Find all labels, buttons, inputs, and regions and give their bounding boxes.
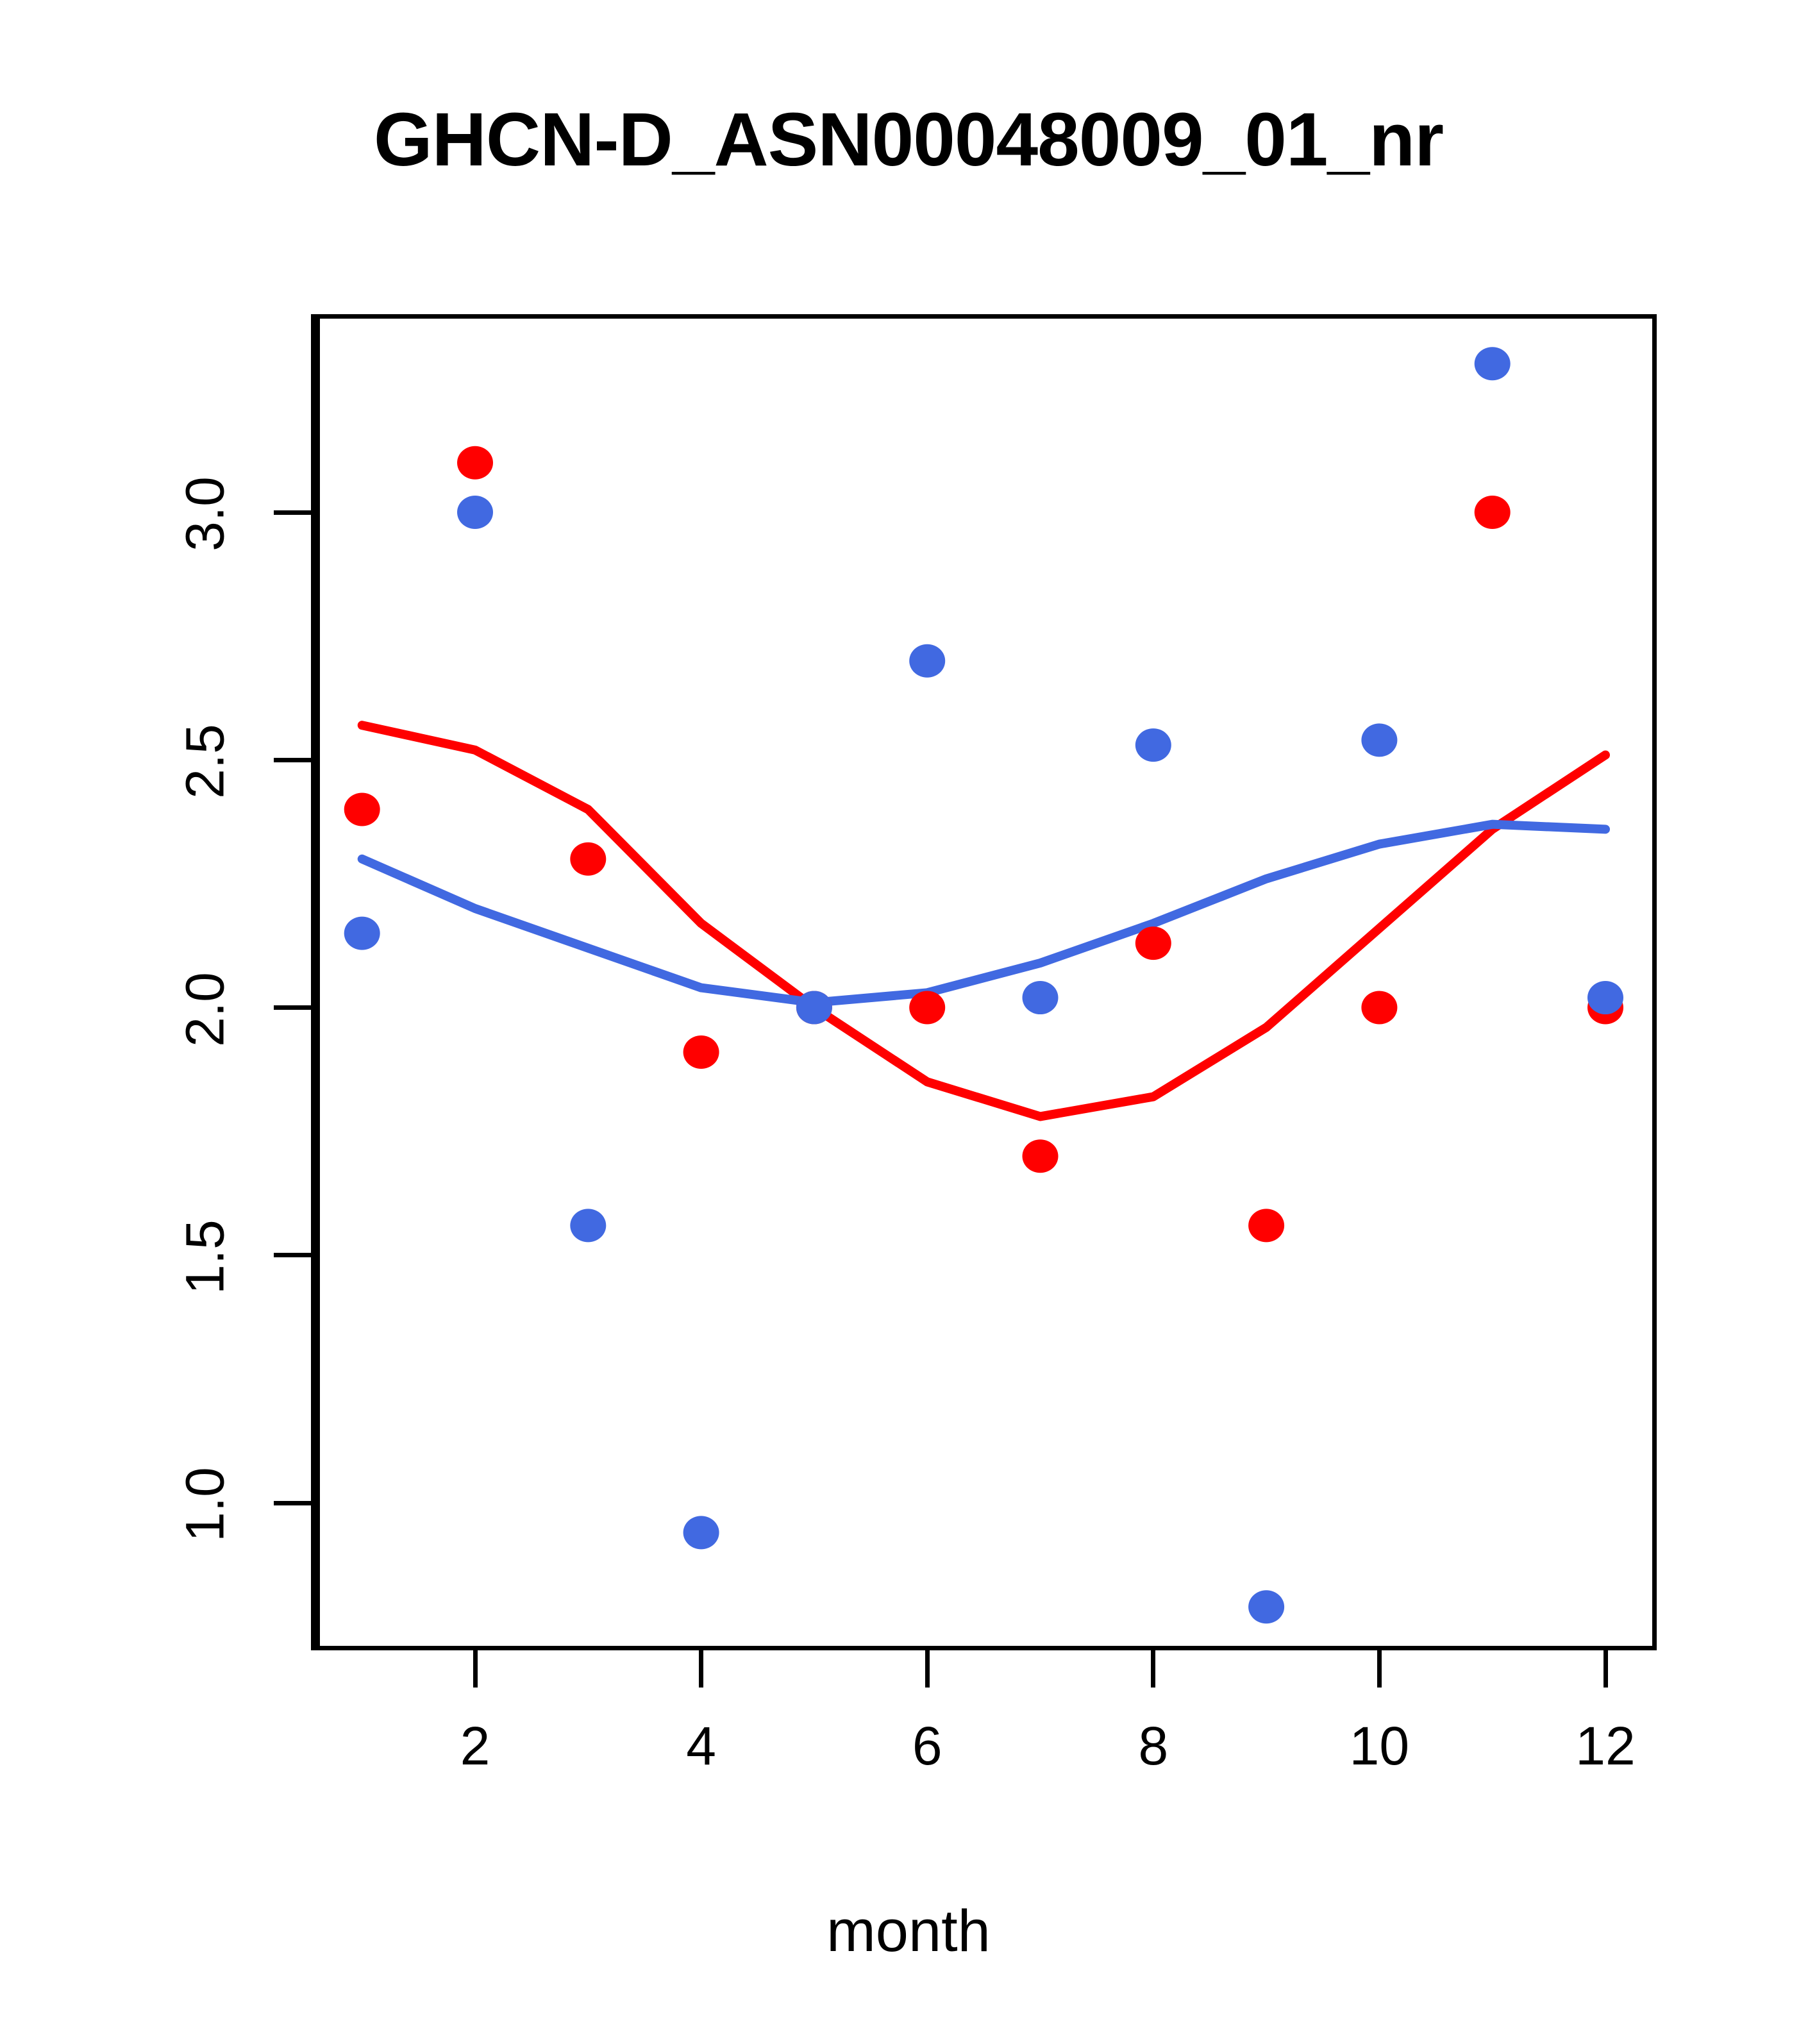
data-point [909,991,945,1025]
x-tick [699,1650,703,1688]
data-point [683,1035,719,1069]
series-line-blue-smooth-line [362,825,1605,1003]
data-point [1475,496,1511,529]
x-tick [1377,1650,1382,1688]
y-tick [274,1005,311,1010]
y-tick [274,510,311,515]
data-point [1023,1139,1059,1173]
x-tick-label: 6 [863,1715,991,1777]
x-tick [925,1650,930,1688]
data-point [1023,981,1059,1014]
y-tick-label: 3.0 [174,457,237,572]
series-line-red-smooth-line [362,725,1605,1116]
data-point [909,644,945,678]
y-tick-label: 2.0 [174,951,237,1067]
y-tick-label: 1.5 [174,1199,237,1314]
data-point [457,446,493,480]
plot-area [315,314,1657,1650]
x-tick-label: 4 [637,1715,766,1777]
page-title: GHCN-D_ASN00048009_01_nr [0,96,1817,183]
data-point [1361,991,1397,1025]
y-tick [274,1501,311,1505]
data-point [1135,926,1171,960]
data-point [570,1209,606,1242]
y-tick-label: 2.5 [174,704,237,819]
data-point [344,793,380,826]
x-tick [1603,1650,1608,1688]
y-tick [274,758,311,762]
data-point [570,842,606,876]
x-tick [473,1650,478,1688]
data-point [1587,981,1623,1014]
x-tick-label: 8 [1089,1715,1218,1777]
x-tick-label: 10 [1315,1715,1443,1777]
data-point [1135,728,1171,762]
data-point [1361,723,1397,757]
x-tick-label: 12 [1541,1715,1670,1777]
x-tick-label: 2 [411,1715,539,1777]
data-series-layer [315,314,1657,1650]
y-axis-line [311,314,315,1650]
data-point [344,917,380,950]
data-point [1248,1209,1284,1242]
data-point [683,1516,719,1549]
x-tick [1151,1650,1155,1688]
y-tick-label: 1.0 [174,1447,237,1562]
x-axis-title: month [0,1898,1817,1965]
chart-page: GHCN-D_ASN00048009_01_nr 1.01.52.02.53.0… [0,0,1817,2044]
data-point [457,496,493,529]
y-tick [274,1253,311,1257]
data-point [796,991,832,1025]
data-point [1248,1590,1284,1623]
data-point [1475,347,1511,380]
